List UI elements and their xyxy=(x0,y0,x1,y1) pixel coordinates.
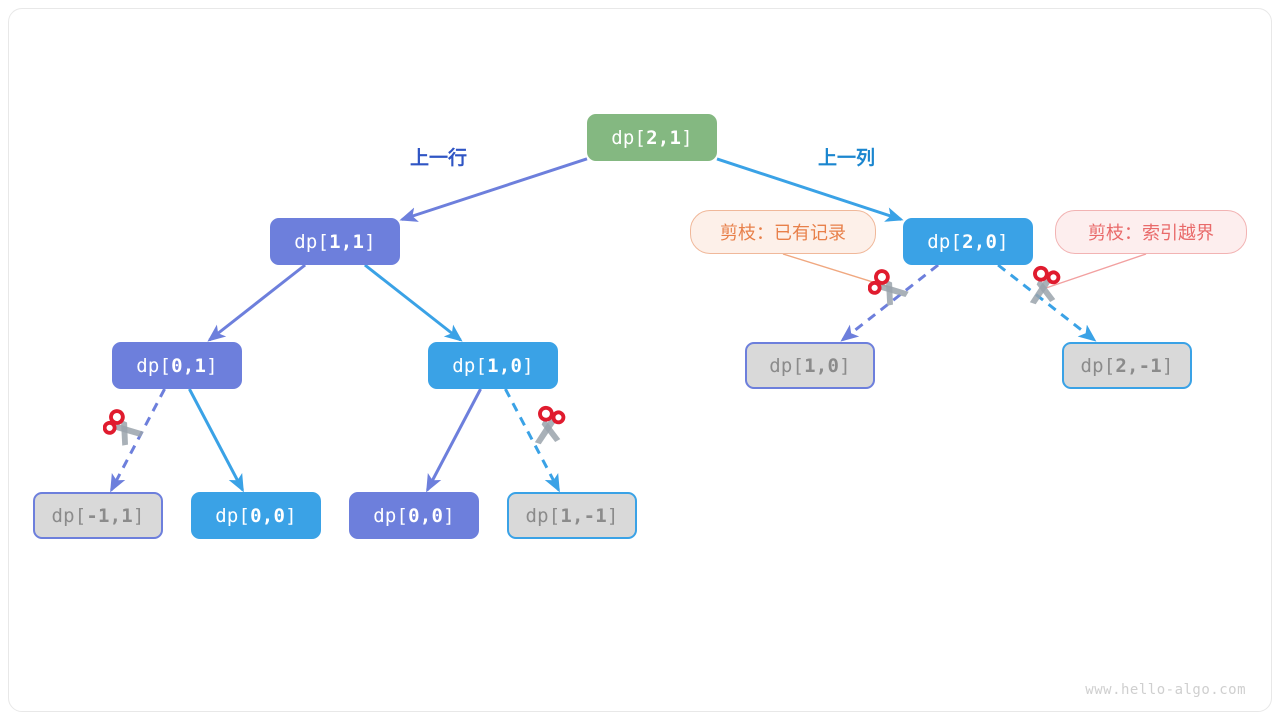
node-label: dp[1,0] xyxy=(769,355,850,377)
edge-n11-to-n10 xyxy=(365,265,461,340)
node-n00b: dp[0,0] xyxy=(349,492,479,539)
scissors-icon xyxy=(868,265,914,311)
scissors-icon xyxy=(523,405,569,451)
node-n20: dp[2,0] xyxy=(903,218,1033,265)
node-label: dp[1,1] xyxy=(294,231,375,253)
edge-n11-to-n01 xyxy=(210,265,306,340)
node-label: dp[-1,1] xyxy=(51,505,144,527)
node-root: dp[2,1] xyxy=(587,114,717,161)
node-label: dp[2,0] xyxy=(927,231,1008,253)
node-n00a: dp[0,0] xyxy=(191,492,321,539)
label-previous-column: 上一列 xyxy=(818,143,875,170)
node-label: dp[1,-1] xyxy=(525,505,618,527)
node-label: dp[0,0] xyxy=(215,505,296,527)
callout-out-of-range: 剪枝：索引越界 xyxy=(1055,210,1247,254)
node-label: dp[2,-1] xyxy=(1080,355,1173,377)
edge-n10-to-n00b xyxy=(427,389,480,490)
scissors-icon xyxy=(103,405,149,451)
callout-memoized: 剪枝：已有记录 xyxy=(690,210,876,254)
node-n01: dp[0,1] xyxy=(112,342,242,389)
diagram-canvas: dp[2,1]dp[1,1]dp[2,0]dp[0,1]dp[1,0]dp[1,… xyxy=(0,0,1280,720)
edge-n01-to-n00a xyxy=(189,389,242,490)
watermark: www.hello-algo.com xyxy=(1085,682,1246,698)
node-label: dp[0,1] xyxy=(136,355,217,377)
node-label: dp[1,0] xyxy=(452,355,533,377)
node-label: dp[2,1] xyxy=(611,127,692,149)
node-n2m1: dp[2,-1] xyxy=(1062,342,1192,389)
node-label: dp[0,0] xyxy=(373,505,454,527)
node-n10g: dp[1,0] xyxy=(745,342,875,389)
node-n10: dp[1,0] xyxy=(428,342,558,389)
node-nm11: dp[-1,1] xyxy=(33,492,163,539)
scissors-icon xyxy=(1018,265,1064,311)
node-n1m1: dp[1,-1] xyxy=(507,492,637,539)
node-n11: dp[1,1] xyxy=(270,218,400,265)
label-previous-row: 上一行 xyxy=(410,143,467,170)
